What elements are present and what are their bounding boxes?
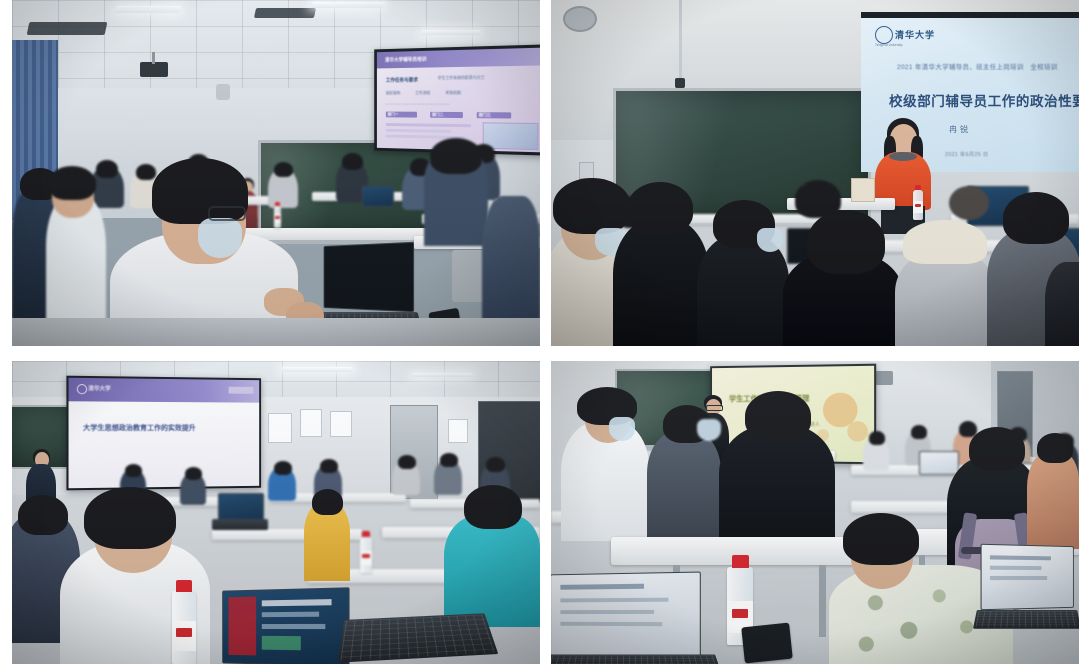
- display-header-text: 清华大学辅导员培训: [385, 56, 426, 64]
- face-mask-icon: [198, 218, 242, 258]
- projection-screen[interactable]: 清华大学 大学生思想政治教育工作的实效提升: [66, 376, 261, 491]
- attendee-figure: [895, 250, 995, 346]
- display-body-line-4: 考核机制: [445, 90, 461, 96]
- wall-outlet: [579, 162, 594, 179]
- slide-presenter-name: 冉锐: [949, 124, 971, 135]
- eyeglasses-icon: [706, 405, 723, 411]
- face-mask-icon: [697, 419, 721, 441]
- wall-conduit: [679, 0, 682, 82]
- eyeglasses-icon: [208, 206, 246, 221]
- slide-decor-circle: [847, 421, 868, 442]
- ceiling-lamp: [421, 30, 480, 35]
- display-tile-label-2: 部门三: [479, 112, 491, 118]
- water-bottle-icon: [360, 537, 372, 573]
- slide-title-text: 大学生思想政治教育工作的实效提升: [83, 423, 196, 433]
- attendee-head: [949, 186, 989, 220]
- slide-logo-icon: [77, 384, 87, 394]
- wall-poster: [448, 419, 468, 443]
- wall-poster: [268, 413, 292, 443]
- presenter-figure: [871, 118, 933, 234]
- laptop-icon: [222, 587, 349, 664]
- laptop-icon: [919, 451, 959, 475]
- display-tile-label-0: 部门一: [388, 112, 399, 118]
- water-bottle-icon: [274, 206, 281, 228]
- laptop-keyboard: [973, 610, 1079, 629]
- attendee-figure: [1045, 262, 1079, 346]
- slide-date-text: 2021 年6月25 日: [945, 151, 988, 158]
- laptop-icon: [981, 544, 1074, 611]
- student-figure: [719, 425, 835, 541]
- slide-title-text: 校级部门辅导员工作的政治性要求: [889, 90, 1079, 110]
- laptop-keyboard: [551, 654, 719, 664]
- slide-header-text: 2021 年清华大学辅导员、班主任上岗培训 全校培训: [897, 62, 1058, 71]
- bucket-hat-icon: [903, 220, 987, 264]
- ceiling-lamp: [115, 6, 182, 13]
- panel-top-right[interactable]: 清华大学 Tsinghua University 2021 年清华大学辅导员、班…: [551, 0, 1079, 346]
- smartphone-icon: [741, 623, 793, 664]
- display-note-line: — — — — — — — — — — — — — — — —: [386, 102, 450, 106]
- laptop-icon: [218, 493, 264, 521]
- ceiling-speaker: [216, 84, 230, 100]
- laptop-icon: [362, 186, 394, 207]
- logo-subtext: Tsinghua University: [875, 43, 903, 47]
- ceiling-vent: [254, 8, 316, 18]
- laptop-keyboard: [338, 613, 498, 662]
- student-figure: [647, 431, 721, 537]
- ceiling-speaker: [563, 6, 597, 32]
- laptop-icon: [551, 572, 701, 661]
- student-figure: [444, 515, 540, 627]
- ceiling-vent: [27, 22, 108, 35]
- water-bottle-icon: [913, 190, 923, 220]
- wall-poster: [300, 409, 322, 437]
- slide-tab: [229, 387, 254, 394]
- projector-mount: [152, 52, 155, 64]
- face-mask-icon: [609, 417, 635, 441]
- panel-bottom-left[interactable]: 清华大学 大学生思想政治教育工作的实效提升: [12, 361, 540, 664]
- logo-text: 清华大学: [895, 28, 935, 41]
- panel-bottom-right[interactable]: 学生工作队伍建设与管理 主讲人: [551, 361, 1079, 664]
- panel-top-left[interactable]: 清华大学辅导员培训 工作任务与要求 学生工作系统的职责与分工 组织架构 工作流程…: [12, 0, 540, 346]
- display-body-line-1: 学生工作系统的职责与分工: [438, 75, 485, 82]
- wall-poster: [330, 411, 352, 437]
- display-body-line-0: 工作任务与要求: [386, 77, 418, 84]
- projector-icon: [140, 62, 168, 77]
- ceiling-lamp: [311, 2, 385, 8]
- photo-collage: 清华大学辅导员培训 工作任务与要求 学生工作系统的职责与分工 组织架构 工作流程…: [0, 0, 1079, 664]
- wall-sensor: [675, 78, 685, 88]
- wall-speaker: [875, 371, 893, 385]
- display-tile-label-1: 部门二: [432, 112, 443, 118]
- slide-logo-text: 清华大学: [88, 384, 111, 392]
- face-mask-icon: [757, 228, 783, 252]
- paper-box: [851, 178, 875, 202]
- water-bottle-icon: [172, 591, 196, 664]
- display-body-line-3: 工作流程: [415, 90, 430, 96]
- laptop-icon: [324, 242, 415, 312]
- display-body-line-2: 组织架构: [386, 90, 401, 96]
- attendee-figure: [613, 218, 709, 346]
- student-figure: [1027, 453, 1079, 549]
- university-logo-icon: [875, 26, 893, 44]
